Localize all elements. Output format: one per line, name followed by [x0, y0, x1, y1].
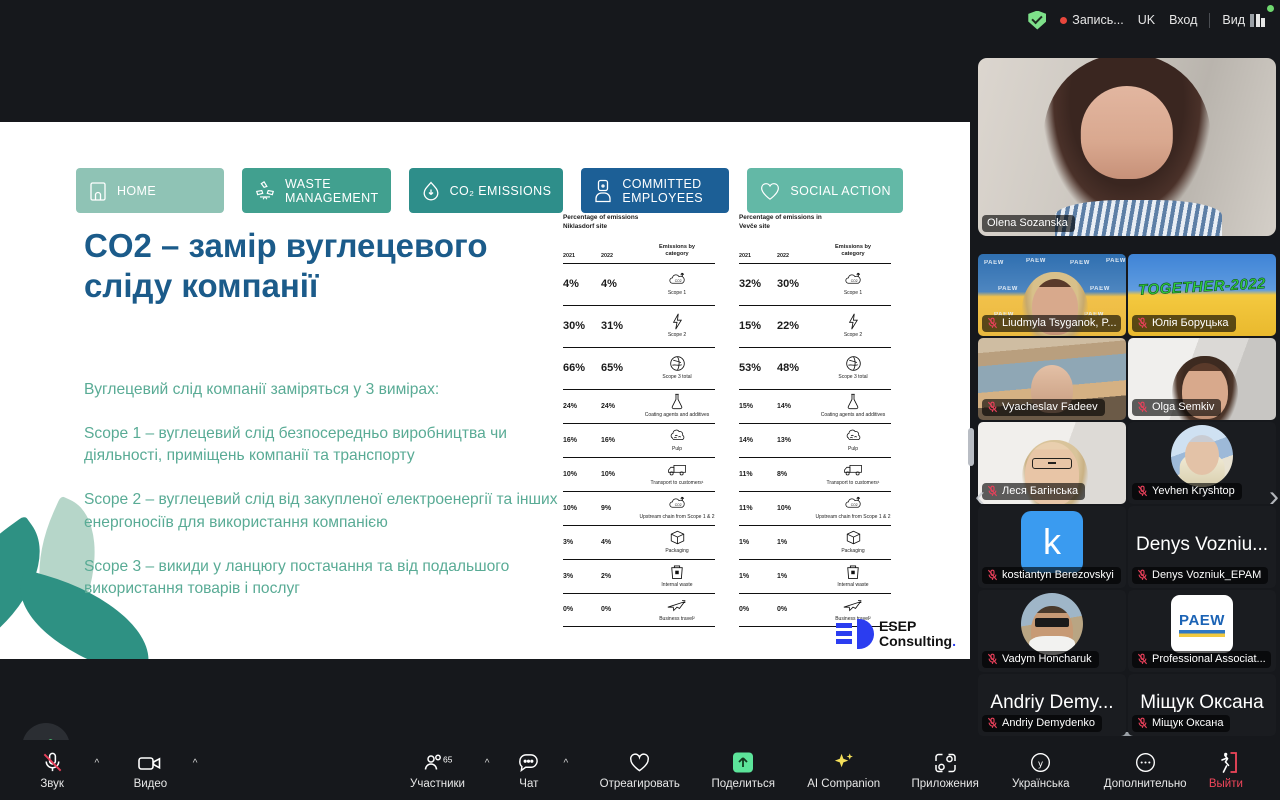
camera-icon [137, 751, 163, 775]
cell-category: Internal waste [639, 564, 715, 588]
category-label: Scope 1 [844, 290, 862, 296]
cell-2021: 53% [739, 362, 777, 374]
ellipsis-icon [1134, 751, 1157, 775]
category-label: Coating agents and additives [645, 412, 710, 418]
category-label: Scope 2 [668, 332, 686, 338]
cell-2021: 10% [563, 505, 601, 512]
muted-microphone-icon [987, 401, 998, 413]
co2-cloud-icon: CO2 [844, 496, 862, 512]
self-video [978, 58, 1276, 236]
slide-tab-home[interactable]: HOME [76, 168, 224, 213]
more-label: Дополнительно [1104, 778, 1187, 790]
chat-icon [517, 751, 540, 775]
esep-halfcircle-icon [857, 619, 874, 649]
cell-2022: 4% [601, 539, 639, 546]
table-row: 10%9%CO2Upstream chain from Scope 1 & 2 [563, 491, 715, 525]
participant-name-tag: Леся Багінська [982, 483, 1085, 500]
emissions-table-vevce: Percentage of emissions inVevče site2021… [739, 214, 891, 627]
cell-2021: 3% [563, 539, 601, 546]
bin-icon [846, 564, 860, 580]
box-icon [670, 530, 685, 546]
svg-text:CO2: CO2 [851, 279, 858, 283]
layout-view-icon [1250, 14, 1265, 27]
cell-2022: 16% [601, 437, 639, 444]
slide-tab-label: CO₂ EMISSIONS [450, 184, 552, 198]
plane-icon [843, 598, 863, 614]
slide-tab-committed-employees[interactable]: COMMITTEDEMPLOYEES [581, 168, 729, 213]
meeting-controls-bar: Звук ^ Видео ^ 65 Участники ^ [0, 740, 1280, 800]
participants-filmstrip: Olena Sozanska Міщук ОксанаМіщук ОксанаA… [976, 58, 1276, 740]
table-row: 16%16%Pulp [563, 423, 715, 457]
cell-2021: 30% [563, 320, 601, 332]
slide-paragraph: Scope 1 – вуглецевий слід безпосередньо … [84, 423, 564, 467]
category-label: Scope 3 total [662, 374, 691, 380]
participant-name-tag: Denys Vozniuk_EPAM [1132, 567, 1268, 584]
column-header: 2021 [563, 253, 601, 259]
participant-name-tag: Olena Sozanska [982, 215, 1075, 232]
cell-2022: 8% [777, 471, 815, 478]
participant-name: Vadym Honcharuk [1002, 653, 1092, 665]
truck-icon [843, 462, 863, 478]
share-screen-icon [730, 751, 756, 775]
cell-2022: 0% [777, 606, 815, 613]
cell-2022: 2% [601, 573, 639, 580]
participant-tile[interactable]: Andriy Demy...Andriy Demydenko [978, 674, 1126, 736]
cell-2021: 11% [739, 505, 777, 512]
audio-label: Звук [40, 778, 64, 790]
table-row: 32%30%CO2Scope 1 [739, 263, 891, 305]
cell-2022: 13% [777, 437, 815, 444]
slide-title: CO2 – замір вуглецевого сліду компанії [84, 226, 554, 307]
recording-indicator[interactable]: Запись... [1053, 10, 1130, 30]
participant-name: Liudmyla Tsyganok, P... [1002, 317, 1117, 329]
avatar [1021, 593, 1083, 655]
cell-2022: 22% [777, 320, 815, 332]
table-row: 24%24%Coating agents and additives [563, 389, 715, 423]
cell-category: Scope 3 total [815, 356, 891, 380]
cell-2022: 4% [601, 278, 639, 290]
cell-2021: 32% [739, 278, 777, 290]
slide-tab-label: SOCIAL ACTION [790, 184, 891, 198]
participant-name: Olga Semkiv [1152, 401, 1214, 413]
svg-text:CO2: CO2 [675, 503, 682, 507]
leave-label: Выйти [1209, 778, 1243, 790]
cell-category: Business travel² [639, 598, 715, 622]
participant-name-tag: Yevhen Kryshtop [1132, 483, 1242, 500]
cell-category: Packaging [815, 530, 891, 554]
table-row: 3%4%Packaging [563, 525, 715, 559]
chevron-up-icon[interactable]: ^ [485, 758, 490, 769]
column-header: 2022 [777, 253, 815, 259]
svg-text:у: у [1038, 758, 1043, 769]
cell-category: Pulp [815, 428, 891, 452]
recycle-icon [254, 180, 276, 202]
category-label: Transport to customers¹ [651, 480, 704, 486]
cell-category: CO2Upstream chain from Scope 1 & 2 [639, 496, 715, 520]
slide-paragraph: Scope 3 – викиди у ланцюгу постачання та… [84, 556, 564, 600]
language-label: UK [1138, 13, 1155, 27]
reactions-button[interactable]: Отреагировать [591, 751, 688, 790]
apps-label: Приложения [912, 778, 979, 790]
connection-status-dot [1267, 5, 1274, 12]
muted-microphone-icon [987, 485, 998, 497]
slide-paragraph: Scope 2 – вуглецевий слід від закупленої… [84, 489, 564, 533]
participant-tile-grid: Міщук ОксанаМіщук ОксанаAndriy Demy...An… [978, 254, 1276, 740]
truck-icon [667, 462, 687, 478]
cell-2022: 10% [777, 505, 815, 512]
category-label: Scope 1 [668, 290, 686, 296]
column-header: 2021 [739, 253, 777, 259]
table-row: 11%10%CO2Upstream chain from Scope 1 & 2 [739, 491, 891, 525]
presentation-slide[interactable]: HOME WASTEMANAGEMENT CO₂ [0, 122, 970, 659]
view-label: Вид [1222, 13, 1245, 27]
slide-tab-waste-management[interactable]: WASTEMANAGEMENT [242, 168, 391, 213]
chevron-up-icon[interactable]: ^ [193, 758, 198, 769]
cell-category: Internal waste [815, 564, 891, 588]
participant-name: Леся Багінська [1002, 485, 1078, 497]
chevron-up-icon[interactable]: ^ [95, 758, 100, 769]
category-label: Pulp [848, 446, 858, 452]
table-row: 1%1%Packaging [739, 525, 891, 559]
table-row: 0%0%Business travel² [563, 593, 715, 627]
table-row: 30%31%Scope 2 [563, 305, 715, 347]
participant-name-tag: Olga Semkiv [1132, 399, 1221, 416]
translate-icon: у [1029, 751, 1052, 775]
slide-body-text: Вуглецевий слід компанії заміряться у 3 … [84, 379, 564, 600]
cell-category: CO2Scope 1 [815, 272, 891, 296]
language-indicator[interactable]: UK [1131, 10, 1162, 30]
cell-2022: 10% [601, 471, 639, 478]
leave-icon [1213, 751, 1239, 775]
cell-2021: 66% [563, 362, 601, 374]
cell-category: Pulp [639, 428, 715, 452]
category-label: Transport to customers¹ [827, 480, 880, 486]
avatar: PAEW [1171, 595, 1233, 653]
plane-icon [667, 598, 687, 614]
muted-microphone-icon [1137, 485, 1148, 497]
cell-2021: 15% [739, 320, 777, 332]
participant-tile[interactable]: PAEWProfessional Associat... [1128, 590, 1276, 672]
share-screen-button[interactable]: Поделиться [702, 751, 784, 790]
avatar [1171, 425, 1233, 487]
participants-icon: 65 [422, 751, 452, 775]
participant-tile[interactable]: Yevhen Kryshtop [1128, 422, 1276, 504]
muted-microphone-icon [987, 717, 998, 729]
category-label: Pulp [672, 446, 682, 452]
cell-2021: 0% [739, 606, 777, 613]
cell-category: CO2Scope 1 [639, 272, 715, 296]
language-button[interactable]: у Українська [1001, 751, 1081, 790]
meeting-top-bar: Запись... UK Вход Вид [0, 0, 1280, 40]
table-row: 4%4%CO2Scope 1 [563, 263, 715, 305]
esep-bars-icon [836, 623, 852, 644]
cell-2022: 9% [601, 505, 639, 512]
slide-section-tabs: HOME WASTEMANAGEMENT CO₂ [76, 168, 903, 213]
table-row: 15%14%Coating agents and additives [739, 389, 891, 423]
pulp-icon [845, 428, 862, 444]
active-speaker-tile[interactable]: Olena Sozanska [978, 58, 1276, 236]
muted-microphone-icon [987, 317, 998, 329]
slide-tab-social-action[interactable]: SOCIAL ACTION [747, 168, 903, 213]
cell-2022: 0% [601, 606, 639, 613]
cell-2021: 0% [563, 606, 601, 613]
participant-tile[interactable]: Denys Vozniu...Denys Vozniuk_EPAM [1128, 506, 1276, 588]
cell-2021: 15% [739, 403, 777, 410]
filmstrip-prev-arrow[interactable]: ‹ [975, 482, 985, 512]
leave-button[interactable]: Выйти [1196, 751, 1256, 790]
video-label: Видео [134, 778, 168, 790]
chevron-up-icon[interactable]: ^ [563, 758, 568, 769]
table-header-row: 20212022Emissions bycategory [563, 244, 715, 263]
heart-icon [759, 181, 781, 201]
lightning-icon [671, 314, 683, 330]
column-header: Emissions bycategory [639, 244, 715, 259]
cell-2021: 1% [739, 539, 777, 546]
cell-2021: 4% [563, 278, 601, 290]
cell-category: Transport to customers¹ [639, 462, 715, 486]
slide-tab-label: WASTEMANAGEMENT [285, 177, 379, 205]
cell-2021: 24% [563, 403, 601, 410]
cell-2021: 1% [739, 573, 777, 580]
category-label: Internal waste [661, 582, 692, 588]
participant-tile[interactable]: Olga Semkiv [1128, 338, 1276, 420]
chat-label: Чат [519, 778, 538, 790]
heart-icon [627, 751, 652, 775]
language-label: Українська [1012, 778, 1070, 790]
category-label: Packaging [841, 548, 864, 554]
participant-name-tag: Professional Associat... [1132, 651, 1271, 668]
login-label: Вход [1169, 13, 1197, 27]
pulp-icon [669, 428, 686, 444]
cell-2021: 16% [563, 437, 601, 444]
participant-name: Denys Vozniuk_EPAM [1152, 569, 1261, 581]
employee-icon [593, 179, 613, 203]
co2-cloud-icon: CO2 [668, 496, 686, 512]
participant-name-tag: kostiantyn Berezovskyi [982, 567, 1121, 584]
category-label: Scope 3 total [838, 374, 867, 380]
shared-screen-stage: HOME WASTEMANAGEMENT CO₂ [0, 40, 970, 670]
participant-tile[interactable]: PAEWPAEWPAEWPAEWPAEWPAEWPAEWPAEWPAEWPAEW… [978, 254, 1126, 336]
audio-button[interactable]: Звук ^ [22, 751, 82, 790]
participant-name: Міщук Оксана [1152, 717, 1223, 729]
participant-display-name: Міщук Оксана [1128, 692, 1276, 714]
table-caption: Percentage of emissionsNiklasdorf site [563, 214, 715, 232]
participant-tile[interactable]: Vyacheslav Fadeev [978, 338, 1126, 420]
cell-category: CO2Upstream chain from Scope 1 & 2 [815, 496, 891, 520]
share-screen-label: Поделиться [711, 778, 775, 790]
globe-icon [669, 356, 686, 372]
slide-tab-label: HOME [117, 184, 156, 198]
esep-consulting-logo: ESEP Consulting. [836, 619, 956, 649]
svg-text:CO2: CO2 [675, 279, 682, 283]
filmstrip-next-arrow[interactable]: › [1269, 482, 1279, 512]
apps-button[interactable]: Приложения [903, 751, 987, 790]
video-button[interactable]: Видео ^ [120, 751, 180, 790]
table-caption: Percentage of emissions inVevče site [739, 214, 891, 232]
table-row: 53%48%Scope 3 total [739, 347, 891, 389]
category-label: Packaging [665, 548, 688, 554]
shared-screen-scrollbar[interactable] [968, 428, 974, 466]
cell-2021: 14% [739, 437, 777, 444]
participant-name-tag: Vyacheslav Fadeev [982, 399, 1105, 416]
ai-companion-label: AI Companion [807, 778, 880, 790]
svg-text:CO2: CO2 [851, 503, 858, 507]
table-row: 14%13%Pulp [739, 423, 891, 457]
muted-microphone-icon [1137, 569, 1148, 581]
muted-microphone-icon [1137, 653, 1148, 665]
cell-2021: 11% [739, 471, 777, 478]
table-row: 11%8%Transport to customers¹ [739, 457, 891, 491]
recording-label: Запись... [1072, 13, 1123, 27]
participant-name: Vyacheslav Fadeev [1002, 401, 1098, 413]
participant-name-tag: Міщук Оксана [1132, 715, 1230, 732]
ai-companion-button[interactable]: AI Companion [798, 751, 889, 790]
cell-category: Scope 3 total [639, 356, 715, 380]
participant-name: kostiantyn Berezovskyi [1002, 569, 1114, 581]
shield-check-icon [1028, 11, 1046, 30]
bin-icon [670, 564, 684, 580]
emissions-tables: Percentage of emissionsNiklasdorf site20… [563, 214, 893, 627]
table-row: 10%10%Transport to customers¹ [563, 457, 715, 491]
participant-tile[interactable]: Міщук ОксанаМіщук Оксана [1128, 674, 1276, 736]
participants-label: Участники [410, 778, 465, 790]
home-icon [88, 180, 108, 202]
box-icon [846, 530, 861, 546]
view-button[interactable]: Вид [1215, 10, 1272, 30]
participant-tile[interactable]: kkostiantyn Berezovskyi [978, 506, 1126, 588]
participant-name-tag: Юлія Боруцька [1132, 315, 1236, 332]
cell-2021: 10% [563, 471, 601, 478]
muted-microphone-icon [1137, 401, 1148, 413]
avatar: k [1021, 511, 1083, 573]
cell-category: Packaging [639, 530, 715, 554]
slide-tab-co2-emissions[interactable]: CO₂ EMISSIONS [409, 168, 564, 213]
microphone-muted-icon [41, 751, 64, 775]
muted-microphone-icon [1137, 317, 1148, 329]
participant-name: Professional Associat... [1152, 653, 1266, 665]
participant-name-tag: Andriy Demydenko [982, 715, 1102, 732]
participant-name-tag: Vadym Honcharuk [982, 651, 1099, 668]
cell-category: Transport to customers¹ [815, 462, 891, 486]
table-row: 15%22%Scope 2 [739, 305, 891, 347]
participant-name: Yevhen Kryshtop [1152, 485, 1235, 497]
category-label: Business travel² [659, 616, 695, 622]
category-label: Internal waste [837, 582, 868, 588]
participant-name: Юлія Боруцька [1152, 317, 1229, 329]
participant-tile[interactable]: TOGETHER-2022Юлія Боруцька [1128, 254, 1276, 336]
flask-icon [670, 394, 684, 410]
participant-name-tag: Liudmyla Tsyganok, P... [982, 315, 1121, 332]
participant-name: Andriy Demydenko [1002, 717, 1095, 729]
cell-2022: 65% [601, 362, 639, 374]
participant-tile[interactable]: Леся Багінська [978, 422, 1126, 504]
category-label: Coating agents and additives [821, 412, 886, 418]
cell-2022: 31% [601, 320, 639, 332]
participant-display-name: Denys Vozniu... [1128, 534, 1276, 556]
login-button[interactable]: Вход [1162, 10, 1204, 30]
muted-microphone-icon [987, 653, 998, 665]
slide-tab-label: COMMITTEDEMPLOYEES [622, 177, 703, 205]
table-row: 3%2%Internal waste [563, 559, 715, 593]
participant-tile[interactable]: Vadym Honcharuk [978, 590, 1126, 672]
category-label: Upstream chain from Scope 1 & 2 [815, 514, 890, 520]
cell-2022: 30% [777, 278, 815, 290]
cell-2021: 3% [563, 573, 601, 580]
chat-button[interactable]: Чат ^ [506, 751, 551, 790]
esep-wordmark: ESEP Consulting. [879, 619, 956, 649]
cell-category: Scope 2 [639, 314, 715, 338]
sparkles-icon [831, 751, 856, 775]
co2-cloud-icon: CO2 [844, 272, 862, 288]
top-bar-divider [1209, 13, 1210, 28]
column-header: Emissions bycategory [815, 244, 891, 259]
lightning-icon [847, 314, 859, 330]
category-label: Scope 2 [844, 332, 862, 338]
category-label: Upstream chain from Scope 1 & 2 [639, 514, 714, 520]
flask-icon [846, 394, 860, 410]
participant-name: Olena Sozanska [987, 217, 1068, 229]
table-row: 66%65%Scope 3 total [563, 347, 715, 389]
apps-icon [933, 751, 958, 775]
cell-2022: 24% [601, 403, 639, 410]
co2-cloud-icon: CO2 [668, 272, 686, 288]
more-button[interactable]: Дополнительно [1095, 751, 1196, 790]
globe-icon [845, 356, 862, 372]
cell-2022: 1% [777, 539, 815, 546]
cell-category: Scope 2 [815, 314, 891, 338]
cell-category: Coating agents and additives [639, 394, 715, 418]
svg-text:65: 65 [443, 754, 452, 764]
cell-2022: 1% [777, 573, 815, 580]
cell-category: Coating agents and additives [815, 394, 891, 418]
participants-button[interactable]: 65 Участники ^ [403, 751, 473, 790]
reactions-label: Отреагировать [600, 778, 680, 790]
emissions-table-niklasdorf: Percentage of emissionsNiklasdorf site20… [563, 214, 715, 627]
table-row: 1%1%Internal waste [739, 559, 891, 593]
security-indicator[interactable] [1021, 8, 1053, 33]
co2-drop-icon [421, 180, 441, 202]
cell-2022: 48% [777, 362, 815, 374]
slide-paragraph: Вуглецевий слід компанії заміряться у 3 … [84, 379, 564, 401]
table-header-row: 20212022Emissions bycategory [739, 244, 891, 263]
muted-microphone-icon [987, 569, 998, 581]
recording-dot-icon [1060, 17, 1067, 24]
participant-display-name: Andriy Demy... [978, 692, 1126, 714]
column-header: 2022 [601, 253, 639, 259]
zoom-meeting-window: Запись... UK Вход Вид [0, 0, 1280, 800]
muted-microphone-icon [1137, 717, 1148, 729]
cell-2022: 14% [777, 403, 815, 410]
